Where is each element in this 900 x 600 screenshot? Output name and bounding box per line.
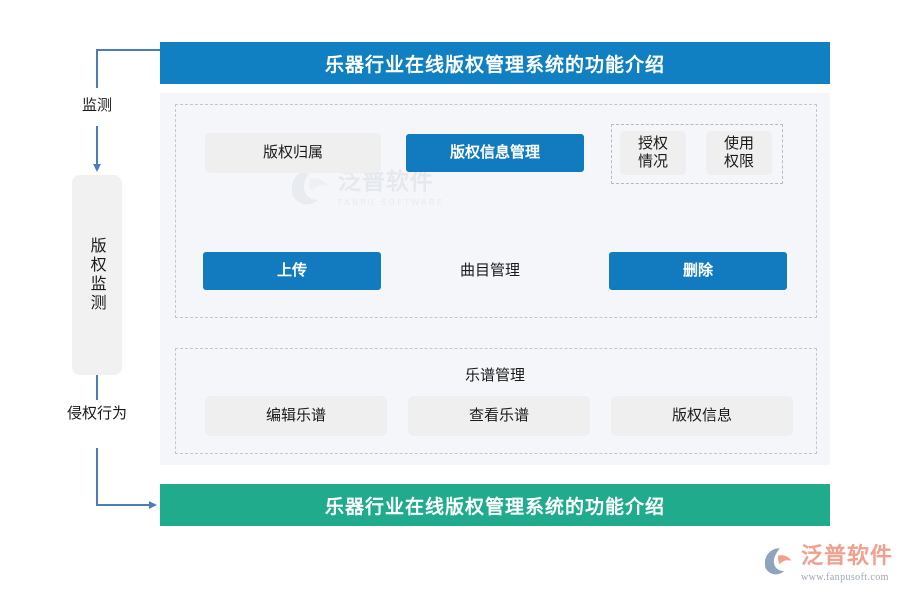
watermark-en: FANPU SOFTWARE [338, 198, 444, 207]
node-copyright-monitor[interactable]: 版权监测 [72, 175, 122, 375]
diagram-canvas: 乐器行业在线版权管理系统的功能介绍 泛普软件 FANPU SOFTWARE 版权… [0, 0, 900, 600]
node-edit-score-label: 编辑乐谱 [266, 407, 326, 425]
infringement-label-text: 侵权行为 [67, 404, 127, 422]
node-ownership-label: 版权归属 [263, 144, 323, 162]
footer-title: 乐器行业在线版权管理系统的功能介绍 [325, 492, 665, 519]
score-management-label: 乐谱管理 [175, 364, 815, 385]
node-delete[interactable]: 删除 [609, 252, 787, 290]
node-view-score[interactable]: 查看乐谱 [408, 396, 590, 436]
footer-banner: 乐器行业在线版权管理系统的功能介绍 [160, 484, 830, 526]
node-auth-status-line1: 授权 [638, 134, 668, 152]
node-ownership[interactable]: 版权归属 [205, 133, 381, 173]
brand-logo-cn: 泛普软件 [801, 546, 893, 568]
connector-infringe-to-footer [97, 448, 155, 505]
node-track-management: 曲目管理 [430, 258, 550, 284]
node-copyright-info-label: 版权信息 [672, 407, 732, 425]
node-auth-status-line2: 情况 [638, 152, 668, 170]
watermark-logo-icon [288, 167, 334, 211]
node-auth-status[interactable]: 授权 情况 [620, 131, 686, 175]
connector-header-to-monitor [97, 50, 160, 88]
node-copyright-monitor-label: 版权监测 [85, 237, 108, 313]
node-upload[interactable]: 上传 [203, 252, 381, 290]
header-title: 乐器行业在线版权管理系统的功能介绍 [325, 50, 665, 77]
brand-logo-icon [762, 546, 796, 580]
brand-logo: 泛普软件 www.fanpusoft.com [762, 546, 893, 583]
node-edit-score[interactable]: 编辑乐谱 [205, 396, 387, 436]
infringement-label: 侵权行为 [67, 404, 127, 422]
monitor-label: 监测 [67, 96, 127, 114]
node-use-right-line2: 权限 [724, 152, 754, 170]
node-track-management-label: 曲目管理 [460, 262, 520, 280]
node-view-score-label: 查看乐谱 [469, 407, 529, 425]
node-upload-label: 上传 [277, 262, 307, 280]
node-copyright-info-management-label: 版权信息管理 [450, 144, 540, 162]
node-use-right-line1: 使用 [724, 134, 754, 152]
node-use-right[interactable]: 使用 权限 [706, 131, 772, 175]
node-delete-label: 删除 [683, 262, 713, 280]
watermark-cn: 泛普软件 [338, 171, 444, 194]
node-copyright-info[interactable]: 版权信息 [611, 396, 793, 436]
node-copyright-info-management[interactable]: 版权信息管理 [406, 134, 584, 172]
brand-logo-url: www.fanpusoft.com [801, 572, 893, 583]
header-banner: 乐器行业在线版权管理系统的功能介绍 [160, 42, 830, 84]
